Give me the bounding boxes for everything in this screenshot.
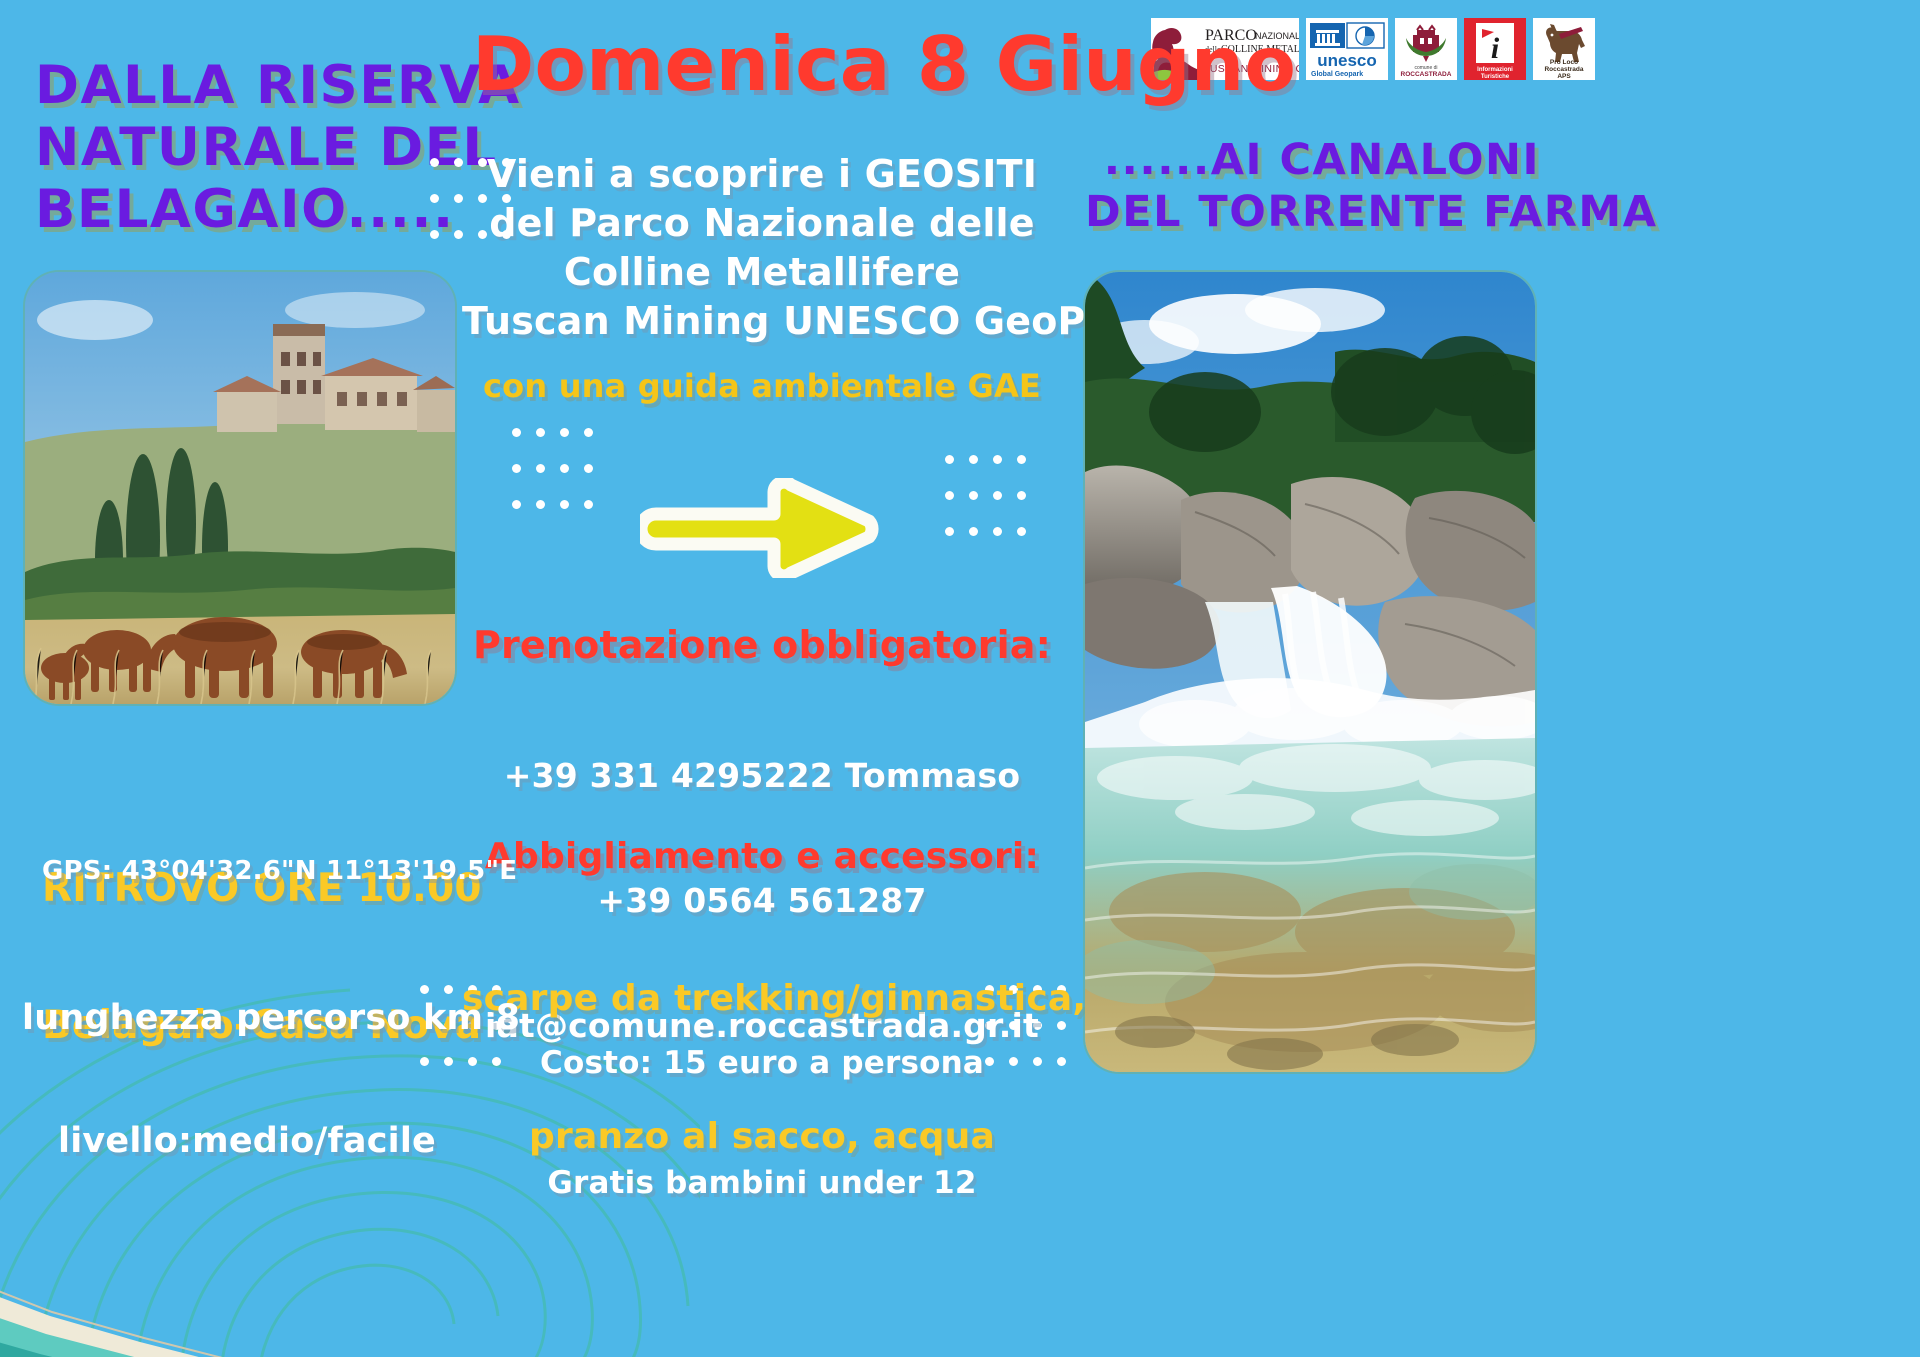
svg-text:Informazioni: Informazioni bbox=[1477, 67, 1513, 73]
map-corner-decoration bbox=[0, 1230, 400, 1357]
pricing-info: Costo: 15 euro a persona Gratis bambini … bbox=[462, 962, 1062, 1284]
event-date-title: Domenica 8 Giugno bbox=[472, 25, 1296, 105]
torrente-farma-canaloni-photo bbox=[1085, 272, 1535, 1072]
cost-line: Costo: 15 euro a persona bbox=[462, 1043, 1062, 1083]
poster-canvas: PARCO NAZIONALE delle COLLINE METALLIFER… bbox=[0, 0, 1920, 1357]
route-length: lunghezza percorso km 8 bbox=[22, 998, 472, 1039]
svg-text:Roccastrada: Roccastrada bbox=[1544, 66, 1583, 73]
svg-text:unesco: unesco bbox=[1317, 51, 1377, 70]
right-arrow-icon bbox=[640, 478, 900, 578]
svg-text:Global Geopark: Global Geopark bbox=[1311, 71, 1363, 78]
intro-description: Vieni a scoprire i GEOSITI del Parco Naz… bbox=[462, 150, 1062, 346]
guide-note: con una guida ambientale GAE bbox=[462, 370, 1062, 404]
svg-text:Turistiche: Turistiche bbox=[1481, 74, 1510, 80]
route-level: livello:medio/facile bbox=[22, 1121, 472, 1162]
heading-destination: ......AI CANALONI DEL TORRENTE FARMA bbox=[1085, 135, 1540, 238]
booking-title: Prenotazione obbligatoria: bbox=[462, 625, 1062, 665]
heading-origin: DALLA RISERVA NATURALE DEL BELAGAIO..... bbox=[35, 55, 521, 241]
svg-text:i: i bbox=[1491, 32, 1500, 65]
gps-coordinates: GPS: 43°04'32.6"N 11°13'19.5"E bbox=[42, 858, 462, 886]
informazioni-turistiche-logo: i Informazioni Turistiche bbox=[1464, 18, 1526, 80]
route-info-block: lunghezza percorso km 8 livello:medio/fa… bbox=[22, 915, 472, 1245]
svg-text:Pro Loco: Pro Loco bbox=[1550, 59, 1578, 66]
svg-text:APS: APS bbox=[1557, 73, 1571, 80]
booking-phone-1: +39 331 4295222 Tommaso bbox=[462, 755, 1062, 797]
unesco-global-geopark-logo: unesco Global Geopark bbox=[1306, 18, 1388, 80]
dot-grid-decoration-mid-right bbox=[945, 455, 1025, 547]
svg-text:ROCCASTRADA: ROCCASTRADA bbox=[1401, 71, 1452, 78]
free-children-line: Gratis bambini under 12 bbox=[462, 1163, 1062, 1203]
gear-title: Abbigliamento e accessori: bbox=[462, 838, 1062, 876]
pro-loco-roccastrada-aps-logo: Pro Loco Roccastrada APS bbox=[1533, 18, 1595, 80]
belagaio-villa-horses-photo bbox=[25, 272, 455, 704]
comune-di-roccastrada-logo: comune di ROCCASTRADA bbox=[1395, 18, 1457, 80]
dot-grid-decoration-mid-left bbox=[512, 428, 592, 520]
